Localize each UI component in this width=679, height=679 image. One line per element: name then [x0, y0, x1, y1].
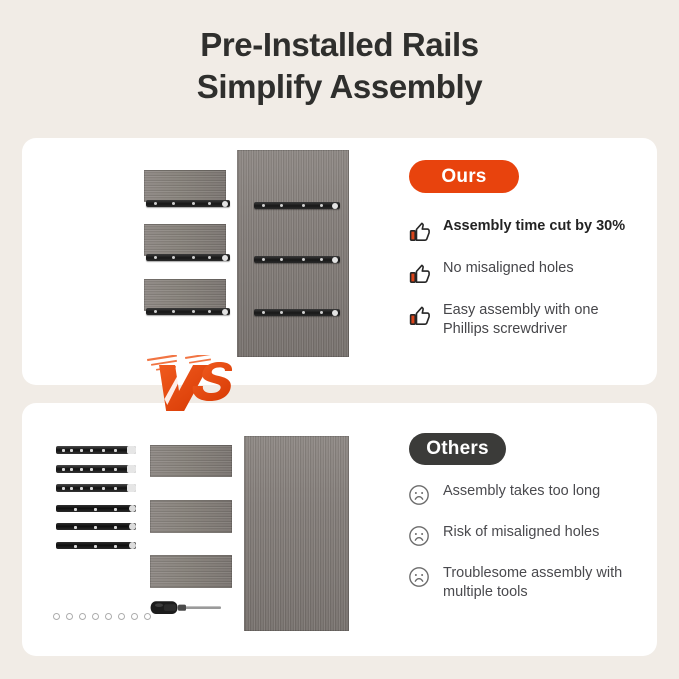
- thumbs-up-icon: [408, 301, 434, 332]
- drawer-front: [144, 170, 226, 202]
- loose-rail: [56, 484, 136, 492]
- others-feature-list: Assembly takes too long Risk of misalign…: [408, 482, 648, 613]
- feature-text: Risk of misaligned holes: [443, 523, 599, 542]
- page-title: Pre-Installed Rails Simplify Assembly: [0, 24, 679, 108]
- drawer-front: [150, 500, 232, 533]
- feature-item: No misaligned holes: [408, 259, 648, 290]
- feature-text: Troublesome assembly with multiple tools: [443, 564, 648, 601]
- title-line-1: Pre-Installed Rails: [0, 24, 679, 66]
- loose-rail: [56, 542, 136, 549]
- feature-item: Assembly takes too long: [408, 482, 648, 511]
- cabinet-side-panel: [244, 436, 349, 631]
- feature-text: Assembly takes too long: [443, 482, 600, 501]
- ours-badge: Ours: [409, 160, 519, 193]
- sad-face-icon: [408, 523, 434, 552]
- drawer-front: [144, 279, 226, 311]
- feature-item: Troublesome assembly with multiple tools: [408, 564, 648, 601]
- loose-rail: [56, 465, 136, 473]
- infographic-root: Pre-Installed Rails Simplify Assembly: [0, 0, 679, 679]
- feature-text: Assembly time cut by 30%: [443, 217, 625, 236]
- feature-item: Easy assembly with one Phillips screwdri…: [408, 301, 648, 338]
- drawer-front: [144, 224, 226, 256]
- feature-text: No misaligned holes: [443, 259, 574, 278]
- side-panel-rail: [254, 256, 340, 263]
- preinstalled-rail: [146, 308, 230, 315]
- title-line-2: Simplify Assembly: [0, 66, 679, 108]
- feature-item: Assembly time cut by 30%: [408, 217, 648, 248]
- screwdriver-icon: [150, 598, 224, 618]
- others-badge: Others: [409, 433, 506, 465]
- preinstalled-rail: [146, 200, 230, 207]
- feature-text: Easy assembly with one Phillips screwdri…: [443, 301, 648, 338]
- drawer-front: [150, 445, 232, 477]
- vs-brush-graphic: [143, 355, 248, 415]
- side-panel-rail: [254, 309, 340, 316]
- cabinet-side-panel: [237, 150, 349, 357]
- drawer-front: [150, 555, 232, 588]
- sad-face-icon: [408, 564, 434, 593]
- ours-badge-label: Ours: [441, 166, 486, 188]
- thumbs-up-icon: [408, 217, 434, 248]
- ours-feature-list: Assembly time cut by 30% No misaligned h…: [408, 217, 648, 349]
- side-panel-rail: [254, 202, 340, 209]
- thumbs-up-icon: [408, 259, 434, 290]
- preinstalled-rail: [146, 254, 230, 261]
- feature-item: Risk of misaligned holes: [408, 523, 648, 552]
- loose-rail: [56, 523, 136, 530]
- sad-face-icon: [408, 482, 434, 511]
- loose-rail: [56, 505, 136, 512]
- others-badge-label: Others: [426, 438, 488, 460]
- loose-rail: [56, 446, 136, 454]
